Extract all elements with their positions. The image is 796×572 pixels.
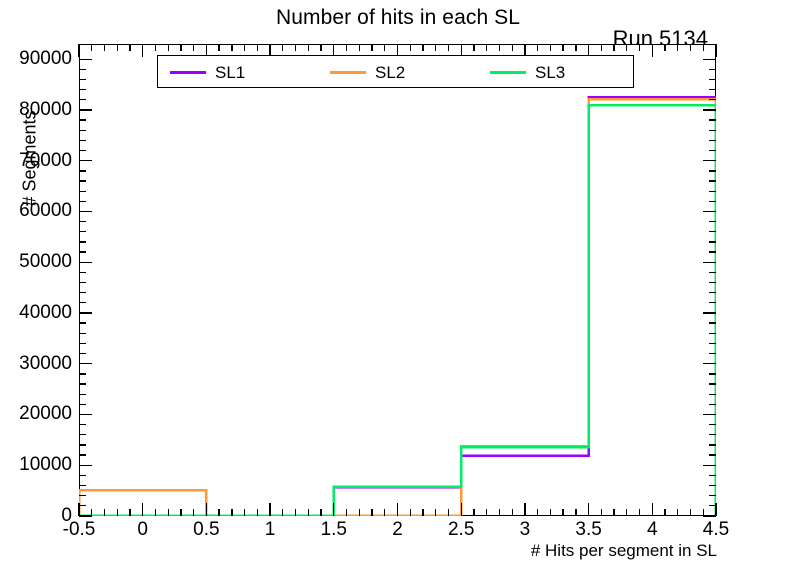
y-tick-minor-right xyxy=(709,170,716,171)
y-tick-minor xyxy=(79,495,86,496)
x-tick-minor xyxy=(320,509,321,516)
y-tick-minor-right xyxy=(709,69,716,70)
x-tick-minor xyxy=(550,509,551,516)
x-tick-minor xyxy=(435,509,436,516)
y-tick-minor xyxy=(79,180,86,181)
y-tick-minor xyxy=(79,191,86,192)
y-tick-minor-right xyxy=(709,424,716,425)
y-tick-major xyxy=(79,312,92,313)
series-outline-sl1 xyxy=(79,97,716,516)
x-tick-minor-top xyxy=(664,44,665,51)
y-tick-minor-right xyxy=(709,292,716,293)
x-tick-label: 4.5 xyxy=(671,519,761,541)
x-tick-minor-top xyxy=(410,44,411,51)
x-tick-minor-top xyxy=(435,44,436,51)
x-tick-minor-top xyxy=(129,44,130,51)
y-tick-minor-right xyxy=(709,150,716,151)
x-tick-minor xyxy=(155,509,156,516)
y-tick-minor xyxy=(79,79,86,80)
x-tick-major xyxy=(206,503,207,516)
x-tick-minor-top xyxy=(486,44,487,51)
x-tick-minor xyxy=(448,509,449,516)
x-tick-minor-top xyxy=(346,44,347,51)
y-tick-major xyxy=(79,262,92,263)
x-tick-minor xyxy=(193,509,194,516)
x-tick-minor-top xyxy=(320,44,321,51)
histogram-series xyxy=(79,44,716,516)
y-tick-minor-right xyxy=(709,180,716,181)
x-tick-minor xyxy=(168,509,169,516)
x-tick-minor xyxy=(371,509,372,516)
x-tick-minor-top xyxy=(384,44,385,51)
y-tick-minor xyxy=(79,434,86,435)
x-tick-major xyxy=(524,503,525,516)
x-tick-minor xyxy=(601,509,602,516)
y-tick-minor-right xyxy=(709,231,716,232)
y-tick-minor-right xyxy=(709,322,716,323)
y-tick-minor xyxy=(79,333,86,334)
x-tick-major-top xyxy=(715,44,716,57)
y-tick-minor-right xyxy=(709,282,716,283)
y-tick-minor xyxy=(79,444,86,445)
y-tick-minor xyxy=(79,140,86,141)
y-tick-major xyxy=(79,363,92,364)
y-tick-minor xyxy=(79,282,86,283)
series-outline-sl3 xyxy=(79,105,716,516)
y-tick-minor-right xyxy=(709,333,716,334)
y-tick-minor-right xyxy=(709,89,716,90)
x-tick-minor xyxy=(282,509,283,516)
y-tick-minor-right xyxy=(709,140,716,141)
x-tick-minor-top xyxy=(626,44,627,51)
x-tick-minor xyxy=(562,509,563,516)
x-tick-minor-top xyxy=(91,44,92,51)
y-tick-minor-right xyxy=(709,404,716,405)
legend-swatch-sl3 xyxy=(490,71,526,74)
y-tick-label: 40000 xyxy=(0,302,72,324)
y-tick-major-right xyxy=(703,312,716,313)
x-tick-minor xyxy=(231,509,232,516)
x-tick-minor xyxy=(512,509,513,516)
x-tick-minor-top xyxy=(168,44,169,51)
legend-label-sl2: SL2 xyxy=(375,64,405,81)
x-tick-minor-top xyxy=(473,44,474,51)
x-tick-minor xyxy=(690,509,691,516)
x-tick-minor xyxy=(295,509,296,516)
y-tick-minor-right xyxy=(709,302,716,303)
x-tick-major-top xyxy=(78,44,79,57)
y-tick-major xyxy=(79,160,92,161)
x-tick-minor-top xyxy=(282,44,283,51)
y-tick-minor-right xyxy=(709,343,716,344)
y-tick-minor-right xyxy=(709,353,716,354)
x-axis-title: # Hits per segment in SL xyxy=(531,541,717,561)
series-outline-sl2 xyxy=(79,99,716,516)
legend-entry-sl2: SL2 xyxy=(330,56,405,89)
x-tick-minor-top xyxy=(155,44,156,51)
x-tick-minor-top xyxy=(639,44,640,51)
x-tick-minor-top xyxy=(499,44,500,51)
y-tick-minor-right xyxy=(709,79,716,80)
x-tick-minor-top xyxy=(359,44,360,51)
y-tick-major xyxy=(79,109,92,110)
x-tick-minor-top xyxy=(512,44,513,51)
y-tick-major xyxy=(79,211,92,212)
y-tick-major-right xyxy=(703,160,716,161)
y-tick-major xyxy=(79,414,92,415)
y-tick-minor-right xyxy=(709,272,716,273)
x-tick-minor xyxy=(639,509,640,516)
x-tick-minor xyxy=(575,509,576,516)
y-tick-major xyxy=(79,59,92,60)
y-tick-minor-right xyxy=(709,485,716,486)
x-tick-minor-top xyxy=(690,44,691,51)
x-tick-minor xyxy=(410,509,411,516)
y-tick-minor xyxy=(79,130,86,131)
y-tick-minor xyxy=(79,69,86,70)
x-tick-minor-top xyxy=(231,44,232,51)
y-tick-major-right xyxy=(703,262,716,263)
legend: SL1 SL2 SL3 xyxy=(157,55,634,88)
y-tick-minor-right xyxy=(709,119,716,120)
y-tick-major-right xyxy=(703,59,716,60)
y-tick-major-right xyxy=(703,465,716,466)
y-tick-minor-right xyxy=(709,495,716,496)
y-tick-minor xyxy=(79,89,86,90)
x-tick-minor-top xyxy=(244,44,245,51)
y-tick-major-right xyxy=(703,211,716,212)
y-tick-minor xyxy=(79,251,86,252)
y-tick-minor xyxy=(79,373,86,374)
x-tick-minor xyxy=(359,509,360,516)
y-tick-minor xyxy=(79,150,86,151)
x-tick-major xyxy=(588,503,589,516)
legend-entry-sl1: SL1 xyxy=(170,56,245,89)
x-tick-minor-top xyxy=(180,44,181,51)
y-tick-major-right xyxy=(703,515,716,516)
y-tick-minor-right xyxy=(709,454,716,455)
legend-swatch-sl2 xyxy=(330,71,366,74)
y-tick-minor xyxy=(79,404,86,405)
x-tick-minor xyxy=(104,509,105,516)
x-tick-minor-top xyxy=(601,44,602,51)
y-tick-minor-right xyxy=(709,241,716,242)
x-tick-minor-top xyxy=(218,44,219,51)
x-tick-minor xyxy=(486,509,487,516)
y-tick-minor xyxy=(79,343,86,344)
y-tick-minor xyxy=(79,302,86,303)
y-tick-minor-right xyxy=(709,373,716,374)
x-tick-minor xyxy=(244,509,245,516)
legend-label-sl3: SL3 xyxy=(535,64,565,81)
x-tick-minor-top xyxy=(257,44,258,51)
x-tick-minor-top xyxy=(575,44,576,51)
y-axis-title: # Segments xyxy=(20,69,41,249)
y-tick-minor xyxy=(79,322,86,323)
x-tick-minor-top xyxy=(703,44,704,51)
y-tick-minor xyxy=(79,241,86,242)
y-tick-major xyxy=(79,515,92,516)
legend-entry-sl3: SL3 xyxy=(490,56,565,89)
x-tick-major xyxy=(715,503,716,516)
y-tick-major-right xyxy=(703,109,716,110)
x-tick-minor xyxy=(613,509,614,516)
x-tick-minor xyxy=(346,509,347,516)
y-tick-minor xyxy=(79,383,86,384)
y-tick-minor xyxy=(79,475,86,476)
x-tick-minor xyxy=(91,509,92,516)
x-tick-minor xyxy=(703,509,704,516)
x-tick-minor-top xyxy=(193,44,194,51)
y-tick-minor xyxy=(79,454,86,455)
y-tick-minor xyxy=(79,231,86,232)
legend-label-sl1: SL1 xyxy=(215,64,245,81)
y-tick-minor xyxy=(79,99,86,100)
y-tick-minor-right xyxy=(709,99,716,100)
x-tick-major-top xyxy=(142,44,143,57)
x-tick-minor xyxy=(473,509,474,516)
y-tick-minor xyxy=(79,119,86,120)
y-tick-minor-right xyxy=(709,251,716,252)
y-tick-minor xyxy=(79,221,86,222)
y-tick-major-right xyxy=(703,414,716,415)
y-tick-minor xyxy=(79,272,86,273)
x-tick-minor xyxy=(218,509,219,516)
x-tick-minor-top xyxy=(448,44,449,51)
x-tick-major xyxy=(142,503,143,516)
y-tick-minor-right xyxy=(709,475,716,476)
x-tick-major xyxy=(333,503,334,516)
x-tick-minor xyxy=(180,509,181,516)
x-tick-minor xyxy=(626,509,627,516)
y-tick-minor xyxy=(79,170,86,171)
x-tick-major xyxy=(397,503,398,516)
y-tick-minor-right xyxy=(709,383,716,384)
y-tick-major xyxy=(79,465,92,466)
y-tick-label: 20000 xyxy=(0,403,72,425)
legend-swatch-sl1 xyxy=(170,71,206,74)
x-tick-minor xyxy=(537,509,538,516)
x-tick-major xyxy=(652,503,653,516)
y-tick-major-right xyxy=(703,363,716,364)
plot-area xyxy=(79,44,716,516)
x-tick-minor-top xyxy=(550,44,551,51)
x-tick-major xyxy=(269,503,270,516)
x-tick-minor xyxy=(664,509,665,516)
y-tick-minor xyxy=(79,292,86,293)
y-tick-minor-right xyxy=(709,394,716,395)
chart-canvas: Number of hits in each SL Run 5134 01000… xyxy=(0,0,796,572)
x-tick-major xyxy=(461,503,462,516)
y-tick-label: 50000 xyxy=(0,251,72,273)
y-tick-minor xyxy=(79,485,86,486)
x-tick-minor-top xyxy=(562,44,563,51)
x-tick-minor xyxy=(129,509,130,516)
y-tick-minor xyxy=(79,394,86,395)
x-tick-minor-top xyxy=(613,44,614,51)
x-tick-minor xyxy=(499,509,500,516)
x-tick-minor-top xyxy=(295,44,296,51)
y-tick-label: 30000 xyxy=(0,353,72,375)
x-tick-minor-top xyxy=(371,44,372,51)
y-tick-minor-right xyxy=(709,201,716,202)
y-tick-label: 10000 xyxy=(0,454,72,476)
y-tick-minor-right xyxy=(709,130,716,131)
y-tick-minor-right xyxy=(709,191,716,192)
x-tick-minor-top xyxy=(537,44,538,51)
y-tick-minor-right xyxy=(709,221,716,222)
x-tick-minor-top xyxy=(677,44,678,51)
y-tick-minor xyxy=(79,201,86,202)
x-tick-minor-top xyxy=(308,44,309,51)
y-tick-minor xyxy=(79,353,86,354)
y-tick-label: 90000 xyxy=(0,48,72,70)
x-tick-minor xyxy=(308,509,309,516)
x-tick-minor xyxy=(384,509,385,516)
y-tick-minor-right xyxy=(709,444,716,445)
x-tick-major-top xyxy=(652,44,653,57)
x-tick-minor xyxy=(422,509,423,516)
y-tick-minor xyxy=(79,424,86,425)
x-tick-minor-top xyxy=(117,44,118,51)
x-tick-major xyxy=(78,503,79,516)
x-tick-minor xyxy=(677,509,678,516)
x-tick-minor-top xyxy=(104,44,105,51)
x-tick-minor xyxy=(257,509,258,516)
x-tick-minor xyxy=(117,509,118,516)
y-tick-minor xyxy=(79,505,86,506)
x-tick-minor-top xyxy=(422,44,423,51)
y-tick-minor-right xyxy=(709,434,716,435)
